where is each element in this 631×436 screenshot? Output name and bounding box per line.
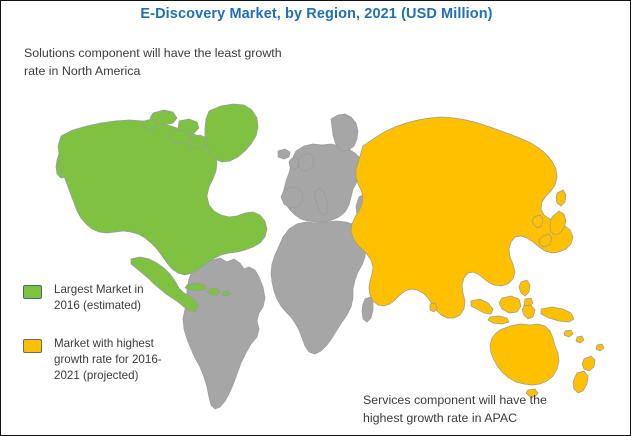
- region-new-zealand-north: [582, 356, 595, 371]
- legend-item-label: Largest Market in 2016 (estimated): [54, 282, 144, 314]
- region-sakhalin: [556, 190, 566, 206]
- region-sulawesi: [522, 305, 535, 319]
- legend-item-highest-growth[interactable]: Market with highest growth rate for 2016…: [23, 336, 188, 384]
- legend-item-label: Market with highest growth rate for 2016…: [54, 336, 162, 384]
- region-new-zealand-south: [573, 371, 588, 393]
- region-borneo: [499, 296, 521, 313]
- region-australia: [490, 324, 559, 385]
- region-java: [488, 316, 509, 324]
- region-iceland: [278, 149, 290, 159]
- green-swatch-icon: [23, 285, 42, 299]
- region-sumatra: [471, 299, 493, 314]
- annotation-apac: Services component will have the highest…: [363, 392, 615, 427]
- region-madagascar: [362, 297, 373, 322]
- region-pacific-island-1: [564, 330, 573, 337]
- region-arctic-island-3: [169, 130, 190, 143]
- legend: Largest Market in 2016 (estimated) Marke…: [23, 282, 188, 406]
- legend-item-largest-market[interactable]: Largest Market in 2016 (estimated): [23, 282, 188, 314]
- region-new-guinea: [541, 307, 574, 322]
- region-philippines: [519, 280, 530, 296]
- region-south-america: [183, 258, 265, 409]
- map-region-apac: [351, 117, 604, 397]
- region-pacific-island-3: [596, 344, 604, 351]
- orange-swatch-icon: [23, 339, 42, 353]
- region-greenland: [205, 104, 258, 162]
- chart-container: E-Discovery Market, by Region, 2021 (USD…: [0, 0, 631, 436]
- region-arctic-island-5: [143, 119, 158, 129]
- region-pacific-island-2: [576, 336, 584, 343]
- region-africa: [271, 221, 366, 354]
